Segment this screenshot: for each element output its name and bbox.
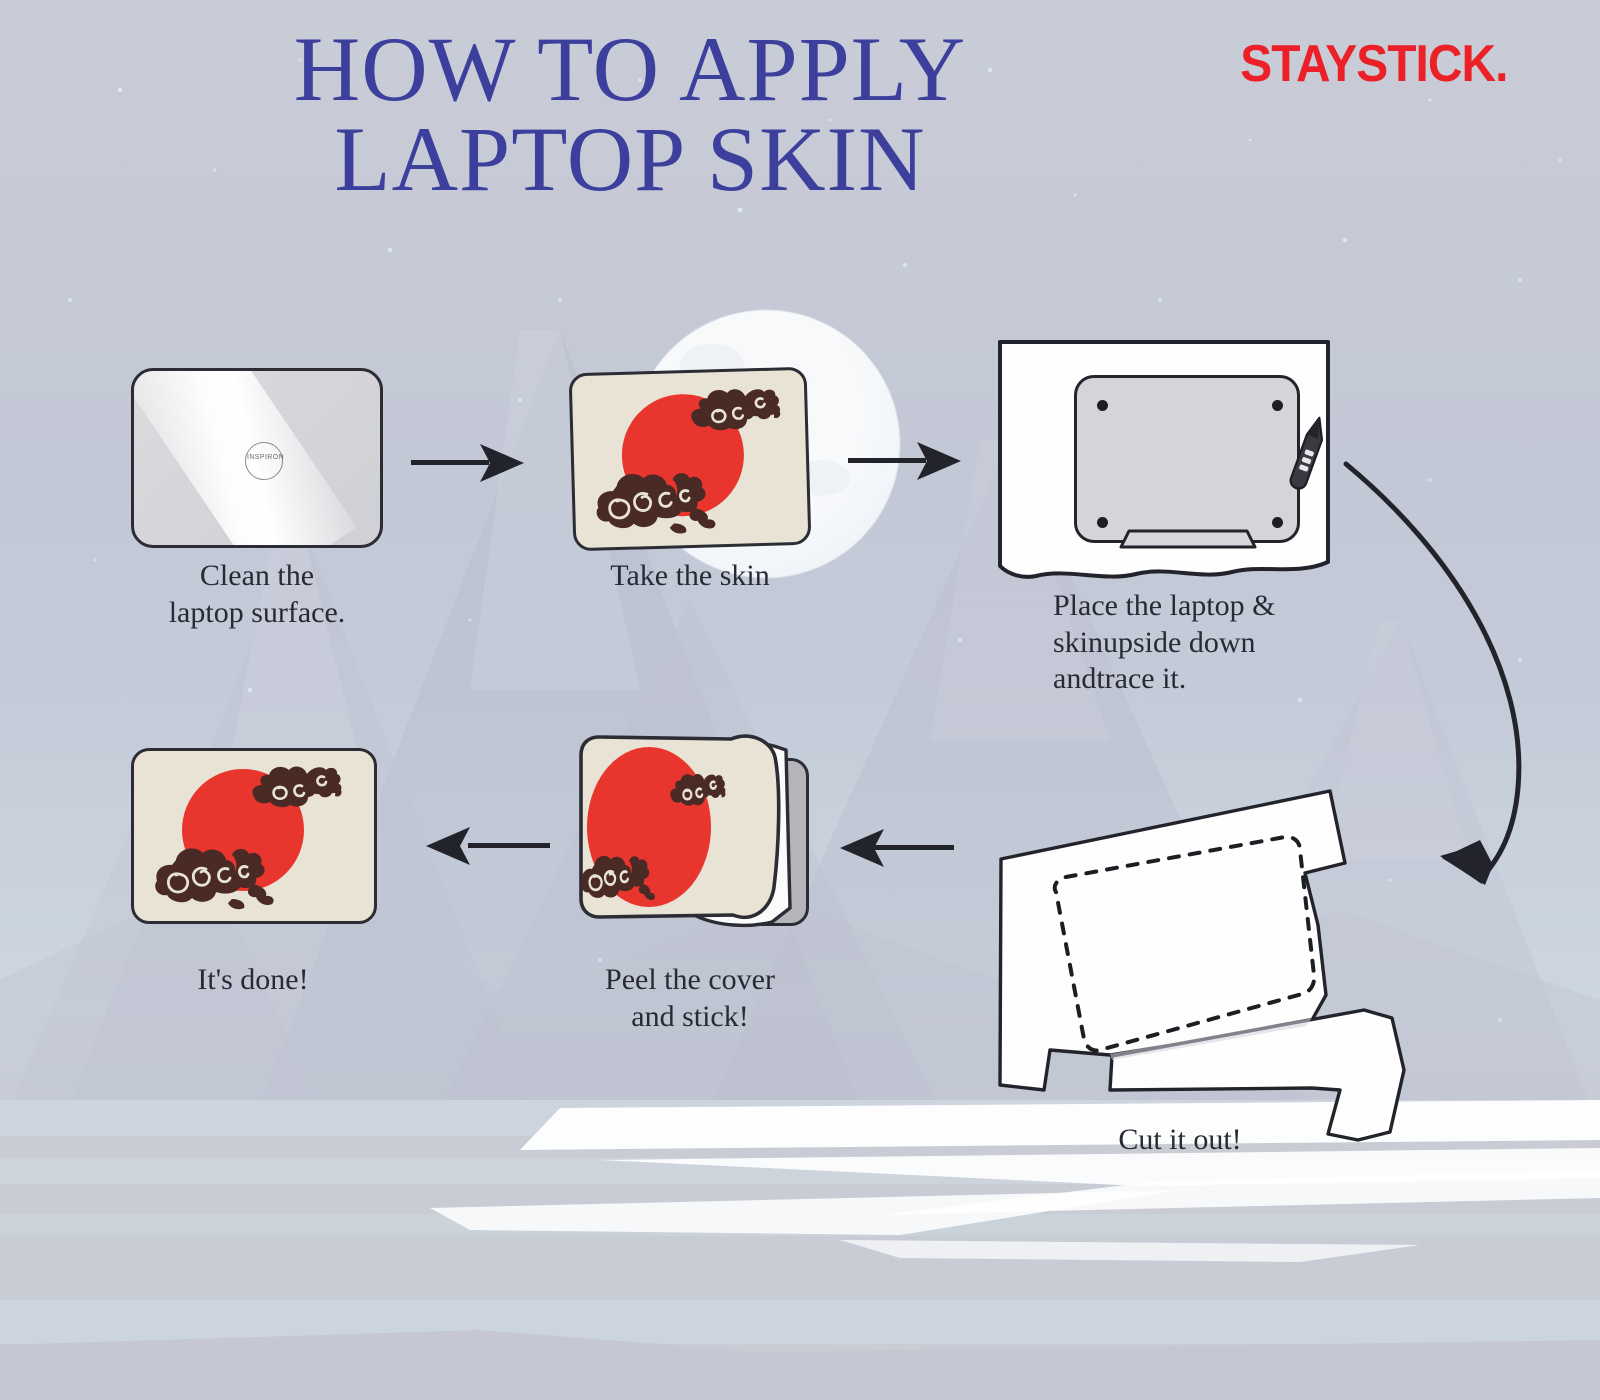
page-title: HOW TO APPLY LAPTOP SKIN xyxy=(90,24,1170,204)
skin-sheet xyxy=(569,367,812,552)
utility-knife-icon xyxy=(1283,412,1333,492)
step-2-caption: Take the skin xyxy=(545,558,835,595)
laptop-closed-lid: INSPIRON xyxy=(131,368,383,548)
laptop-foot xyxy=(1097,517,1108,528)
brand-logo-dot: . xyxy=(1496,35,1508,93)
step-6-caption: It's done! xyxy=(108,962,398,999)
infographic-poster: HOW TO APPLY LAPTOP SKIN STAYSTICK. INSP… xyxy=(0,0,1600,1400)
step-1-caption: Clean the laptop surface. xyxy=(102,558,412,631)
laptop-foot xyxy=(1272,400,1283,411)
laptop-underside xyxy=(1074,375,1300,543)
cloud-motif-upper xyxy=(244,755,344,817)
step-5-caption: Peel the cover and stick! xyxy=(545,962,835,1035)
laptop-brand-logo-circle xyxy=(245,442,283,480)
cloud-motif-lower xyxy=(148,837,276,913)
laptop-hinge-vent xyxy=(1113,525,1263,549)
brand-logo-text: STAYSTICK xyxy=(1241,35,1496,93)
peel-layer-skin xyxy=(561,727,791,933)
paper-being-cut xyxy=(960,760,1410,1160)
protective-film xyxy=(131,368,357,548)
laptop-brand-logo-text: INSPIRON xyxy=(247,454,281,461)
laptop-foot xyxy=(1272,517,1283,528)
finished-skin-laptop xyxy=(131,748,377,924)
step-4-caption: Cut it out! xyxy=(1035,1122,1325,1159)
laptop-foot xyxy=(1097,400,1108,411)
cloud-motif-lower xyxy=(588,460,718,540)
cloud-motif-upper xyxy=(682,376,784,441)
brand-logo: STAYSTICK. xyxy=(1241,34,1508,94)
